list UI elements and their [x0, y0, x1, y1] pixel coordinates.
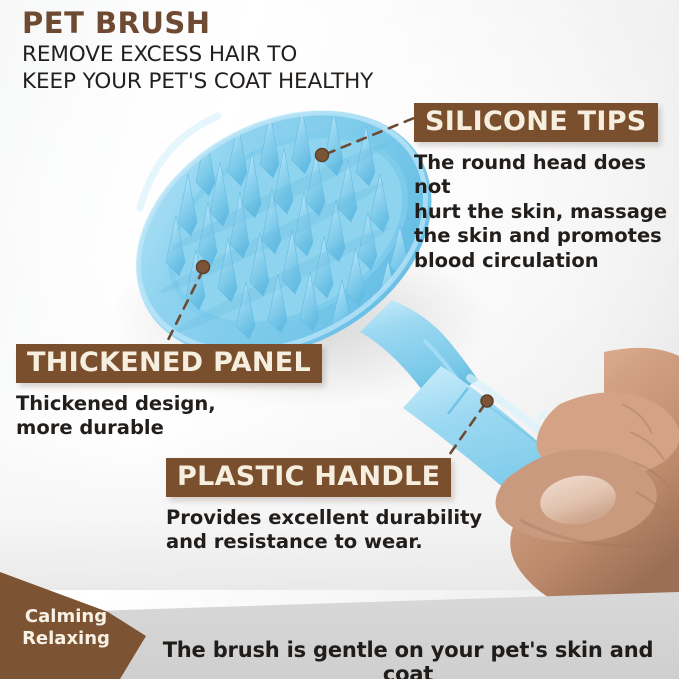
marker-dot-handle	[481, 395, 493, 407]
marker-dot-silicone	[316, 149, 329, 162]
callout-badge-plastic-handle: PLASTIC HANDLE	[166, 458, 451, 497]
callout-badge-silicone-tips: SILICONE TIPS	[414, 103, 658, 142]
callout-badge-thickened-panel: THICKENED PANEL	[16, 344, 322, 383]
infographic-page: PET BRUSH REMOVE EXCESS HAIR TO KEEP YOU…	[0, 0, 679, 679]
product-illustration: FACTUR	[0, 0, 679, 679]
callout-body-thickened-panel: Thickened design, more durable	[16, 392, 322, 441]
callout-body-plastic-handle: Provides excellent durability and resist…	[166, 506, 482, 555]
marker-dot-thickened	[197, 261, 210, 274]
corner-tab-label: Calming Relaxing	[10, 606, 122, 649]
hand	[496, 348, 679, 622]
bottom-caption: The brush is gentle on your pet's skin a…	[148, 638, 668, 679]
callout-silicone-tips: SILICONE TIPS The round head does not hu…	[414, 103, 679, 273]
callout-plastic-handle: PLASTIC HANDLE Provides excellent durabi…	[166, 458, 482, 555]
callout-thickened-panel: THICKENED PANEL Thickened design, more d…	[16, 344, 322, 441]
callout-body-silicone-tips: The round head does not hurt the skin, m…	[414, 151, 679, 273]
